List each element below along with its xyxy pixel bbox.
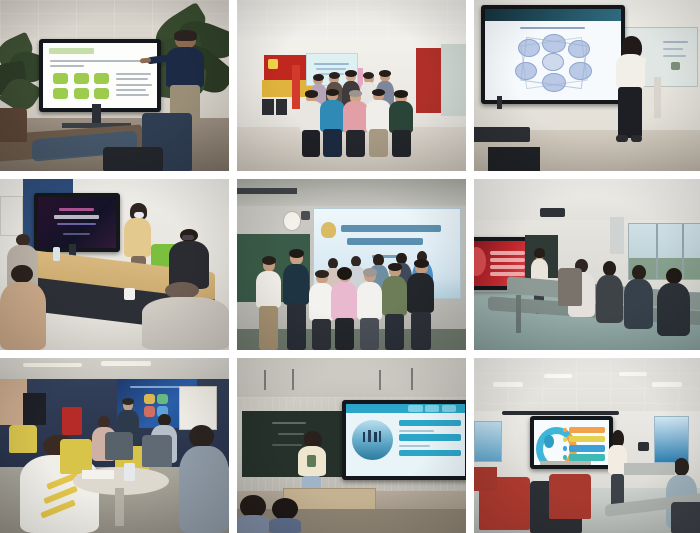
wall-monitor (23, 393, 46, 425)
collage-cell-r2c1[interactable] (0, 179, 229, 350)
display-cable (497, 96, 502, 110)
red-equipment-cart (62, 407, 83, 435)
projector (540, 208, 566, 217)
display-stand-pole (92, 104, 101, 125)
person-front-2 (283, 251, 310, 350)
paper-cup (124, 288, 135, 300)
collage-cell-r3c2[interactable] (237, 358, 466, 533)
student-head-1 (237, 495, 269, 533)
speaker-box-left (262, 99, 273, 114)
scene-seminar-room-back-view (0, 358, 229, 533)
student-head-2 (269, 498, 301, 533)
person-front-7 (406, 261, 436, 350)
collage-cell-r1c2[interactable] (237, 0, 466, 171)
wall-display[interactable] (481, 5, 625, 104)
scene-network-diagram-presentation (474, 0, 700, 171)
scene-competition-group-photo (237, 179, 466, 350)
yellow-chair-3 (9, 425, 36, 453)
classroom-display[interactable] (342, 400, 466, 480)
wall-poster-left (474, 421, 502, 462)
chair-1 (558, 268, 581, 306)
collage-cell-r2c3[interactable] (474, 179, 700, 350)
pointer-stick (654, 77, 661, 118)
dark-title-slide (38, 197, 116, 248)
bottle (124, 463, 135, 481)
scene-group-photo-red-banner (237, 0, 466, 171)
teal-photo-slide (346, 404, 465, 476)
shirt-graphic (307, 455, 315, 467)
ceiling-light-4 (652, 382, 682, 387)
side-table (624, 463, 675, 475)
grey-chair-2 (142, 435, 172, 467)
slide-hex-network (485, 9, 621, 100)
collage-cell-r1c3[interactable] (474, 0, 700, 171)
whiteboard-right (179, 386, 218, 430)
person-front-5 (388, 92, 414, 157)
display-screen (38, 197, 116, 248)
water-bottle (53, 247, 60, 261)
wall-control-panel[interactable] (638, 442, 650, 451)
student-3 (624, 265, 654, 330)
person-front-5 (356, 270, 383, 350)
seated-person-left-2 (0, 265, 50, 351)
display[interactable] (34, 193, 120, 252)
seated-person-foreground (142, 282, 229, 350)
table-pedestal (115, 488, 124, 527)
scene-modern-meeting-room-presentation (474, 358, 700, 533)
competition-emblem (321, 222, 336, 238)
speaker-box-right (276, 99, 287, 114)
chair-foreground (671, 502, 700, 533)
chair-left (0, 108, 27, 142)
security-camera (301, 211, 310, 220)
face-mask (182, 235, 194, 240)
person-front-6 (381, 265, 408, 351)
display-screen (485, 9, 621, 100)
collage-cell-r2c2[interactable] (237, 179, 466, 350)
student-2 (596, 261, 624, 323)
whiteboard-left (0, 196, 23, 236)
collage-cell-r3c1[interactable] (0, 358, 229, 533)
ceiling-light-2 (544, 374, 572, 378)
bench-top (474, 127, 530, 142)
collage-cell-r1c1[interactable] (0, 0, 229, 171)
yellow-chair-1 (60, 439, 92, 474)
chair-foreground (103, 147, 163, 171)
donut-bars-slide (534, 420, 609, 466)
papers (82, 470, 114, 479)
grey-chair (105, 432, 132, 460)
ceiling-light-2 (101, 361, 151, 365)
person-front-1 (255, 258, 282, 350)
attendee-right-foreground (179, 425, 229, 533)
projector-screen-housing (502, 411, 619, 415)
collage-cell-r3c3[interactable] (474, 358, 700, 533)
ceiling-light-1 (23, 363, 83, 368)
smart-display[interactable] (39, 39, 162, 112)
scene-male-presenter-pointing (0, 0, 229, 171)
ceiling (474, 179, 700, 220)
student-4 (657, 268, 692, 336)
display-screen (43, 43, 158, 108)
window-right (441, 44, 466, 116)
ceiling (474, 358, 700, 411)
circular-photo (352, 420, 392, 460)
photo-collage-grid (0, 0, 700, 525)
red-cabinet (474, 467, 497, 492)
scene-lecture-seated-students (474, 179, 700, 350)
display-shelf (540, 461, 591, 465)
slide-green-icons (43, 43, 158, 108)
red-chair-2 (549, 474, 591, 520)
wall-clock (283, 211, 301, 230)
ceiling-light-3 (619, 372, 647, 376)
person-front-4 (331, 270, 358, 350)
display-screen (534, 420, 609, 466)
bench-front (488, 147, 539, 171)
ceiling (237, 0, 466, 38)
wall-poster-right (654, 416, 689, 464)
scene-teacher-at-blackboard (237, 358, 466, 533)
presenter-female (614, 38, 649, 144)
ceiling-light-1 (493, 382, 523, 387)
ceiling-beam (237, 188, 297, 195)
red-door (416, 48, 441, 113)
wall-switch[interactable] (671, 62, 680, 71)
ceiling-duct (610, 217, 624, 255)
ceiling (0, 358, 229, 379)
ceiling (237, 358, 466, 397)
table-leg (516, 295, 521, 333)
display-screen (346, 404, 465, 476)
scene-masked-speaker-conference (0, 179, 229, 350)
